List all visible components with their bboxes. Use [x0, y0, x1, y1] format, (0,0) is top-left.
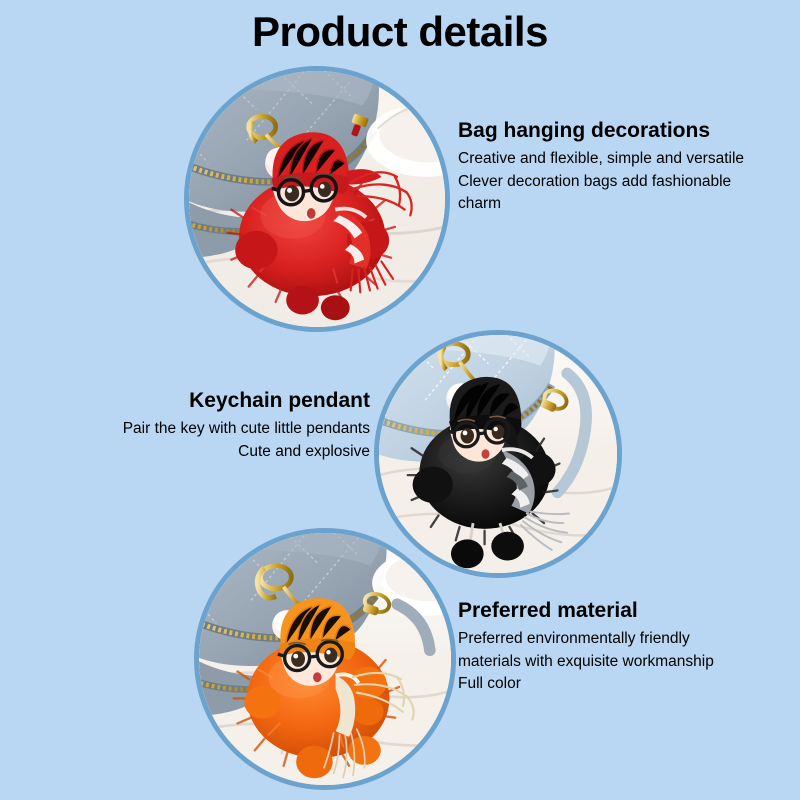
- feature-description-line: Cute and explosive: [22, 441, 370, 463]
- product-photo-black-doll: [374, 330, 622, 578]
- feature-heading: Bag hanging decorations: [458, 118, 798, 143]
- feature-block-bag-hanging-decorations: Bag hanging decorations Creative and fle…: [458, 118, 798, 216]
- feature-description-line: Preferred environmentally friendly: [458, 628, 798, 650]
- product-details-infographic: Product details: [0, 0, 800, 800]
- feature-block-keychain-pendant: Keychain pendant Pair the key with cute …: [22, 388, 370, 463]
- feature-description: Pair the key with cute little pendants C…: [22, 418, 370, 463]
- feature-description-line: Pair the key with cute little pendants: [22, 418, 370, 440]
- product-photo-red-doll: [184, 66, 450, 332]
- feature-description-line: Full color: [458, 673, 798, 695]
- product-photo-orange-doll: [194, 528, 456, 790]
- page-title: Product details: [0, 8, 800, 56]
- feature-description: Creative and flexible, simple and versat…: [458, 148, 798, 215]
- feature-description-line: Creative and flexible, simple and versat…: [458, 148, 798, 170]
- feature-heading: Preferred material: [458, 598, 798, 623]
- feature-block-preferred-material: Preferred material Preferred environment…: [458, 598, 798, 696]
- feature-description-line: Clever decoration bags add fashionable: [458, 171, 798, 193]
- feature-description: Preferred environmentally friendly mater…: [458, 628, 798, 695]
- feature-description-line: charm: [458, 193, 798, 215]
- feature-heading: Keychain pendant: [22, 388, 370, 413]
- feature-description-line: materials with exquisite workmanship: [458, 651, 798, 673]
